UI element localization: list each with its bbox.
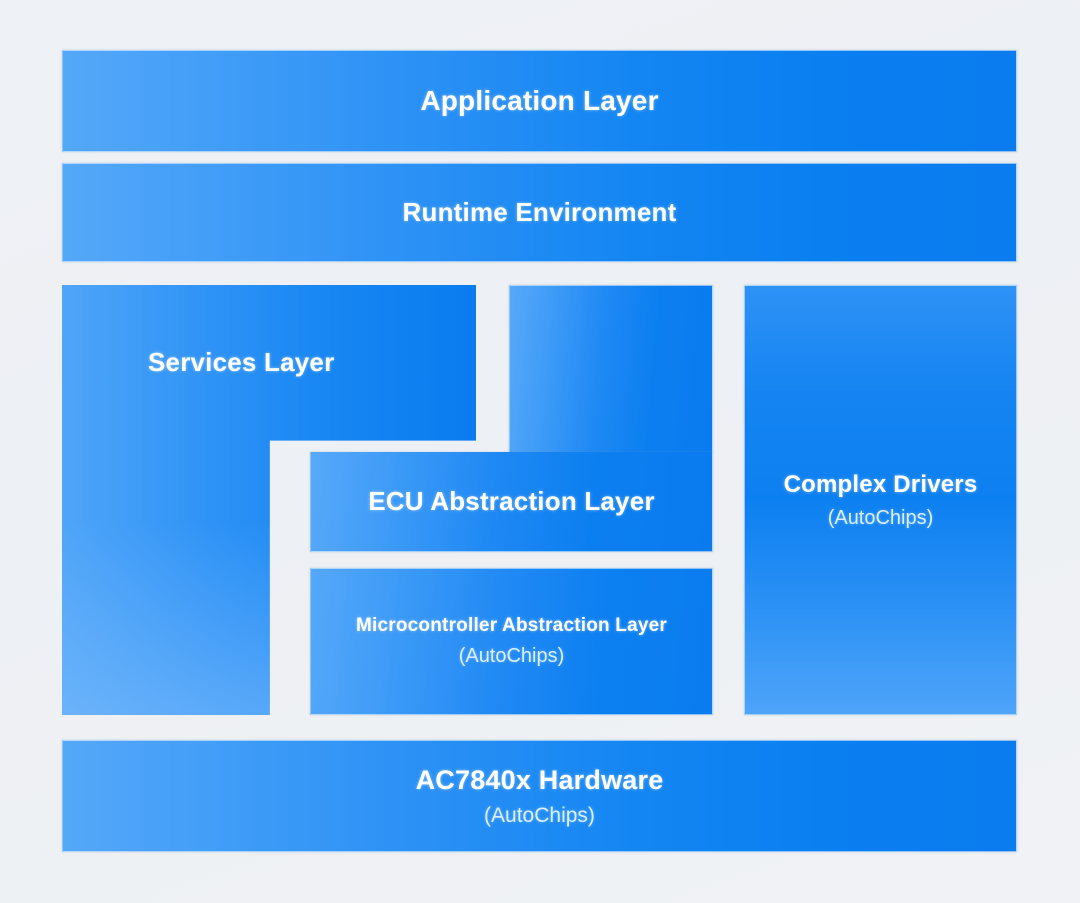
mcal-vendor-label: (AutoChips) (459, 645, 565, 668)
application-layer-label: Application Layer (420, 85, 658, 117)
runtime-environment-label: Runtime Environment (403, 197, 677, 228)
layer-block-ecu-abstraction[interactable]: ECU Abstraction Layer (310, 452, 713, 552)
layer-block-microcontroller-abstraction[interactable]: Microcontroller Abstraction Layer (AutoC… (310, 568, 713, 715)
hardware-vendor-label: (AutoChips) (484, 804, 595, 828)
layer-block-application[interactable]: Application Layer (62, 50, 1017, 152)
complex-drivers-vendor-label: (AutoChips) (828, 507, 934, 530)
ecu-abstraction-upper-column[interactable] (509, 285, 713, 453)
hardware-label: AC7840x Hardware (416, 765, 664, 796)
mcal-label: Microcontroller Abstraction Layer (356, 615, 667, 637)
services-layer-label: Services Layer (148, 347, 334, 378)
complex-drivers-label: Complex Drivers (784, 471, 978, 499)
layer-block-complex-drivers[interactable]: Complex Drivers (AutoChips) (744, 285, 1017, 715)
layered-architecture-diagram: Application Layer Runtime Environment Se… (0, 0, 1080, 903)
layer-block-hardware[interactable]: AC7840x Hardware (AutoChips) (62, 740, 1017, 852)
ecu-abstraction-layer-label: ECU Abstraction Layer (368, 486, 654, 517)
layer-block-runtime-environment[interactable]: Runtime Environment (62, 163, 1017, 262)
